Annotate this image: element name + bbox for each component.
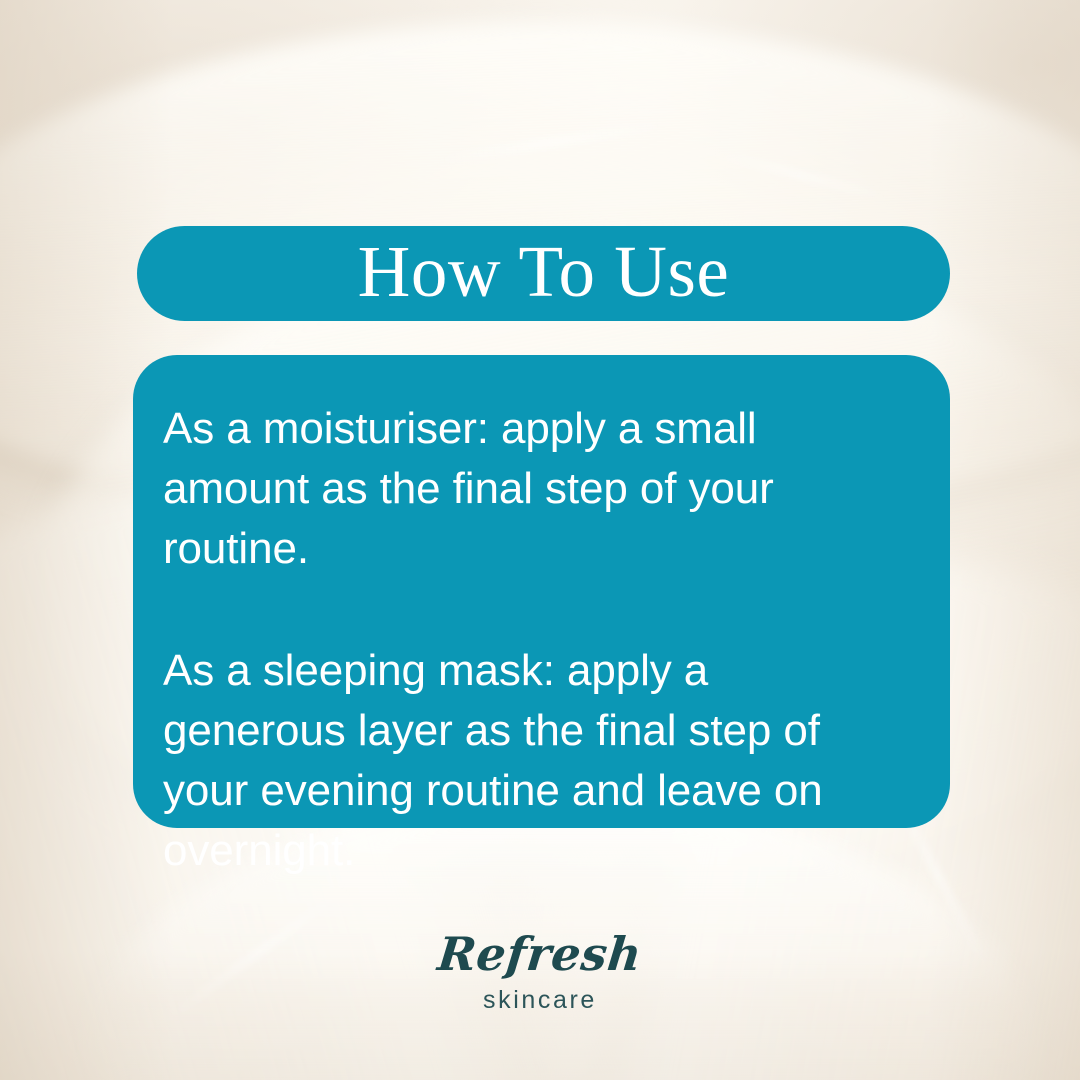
post-canvas: How To Use As a moisturiser: apply a sma… (0, 0, 1080, 1080)
brand-tagline: skincare (0, 986, 1080, 1014)
title-pill-card: How To Use (137, 226, 950, 321)
instructions-card: As a moisturiser: apply a small amount a… (133, 355, 950, 828)
brand-name: Refresh (436, 930, 645, 978)
instruction-paragraph-sleeping-mask: As a sleeping mask: apply a generous lay… (163, 641, 898, 881)
instructions-text-block: As a moisturiser: apply a small amount a… (163, 399, 898, 881)
brand-logo: Refresh skincare (0, 930, 1080, 1014)
instruction-paragraph-moisturiser: As a moisturiser: apply a small amount a… (163, 399, 898, 579)
page-title: How To Use (358, 235, 730, 312)
